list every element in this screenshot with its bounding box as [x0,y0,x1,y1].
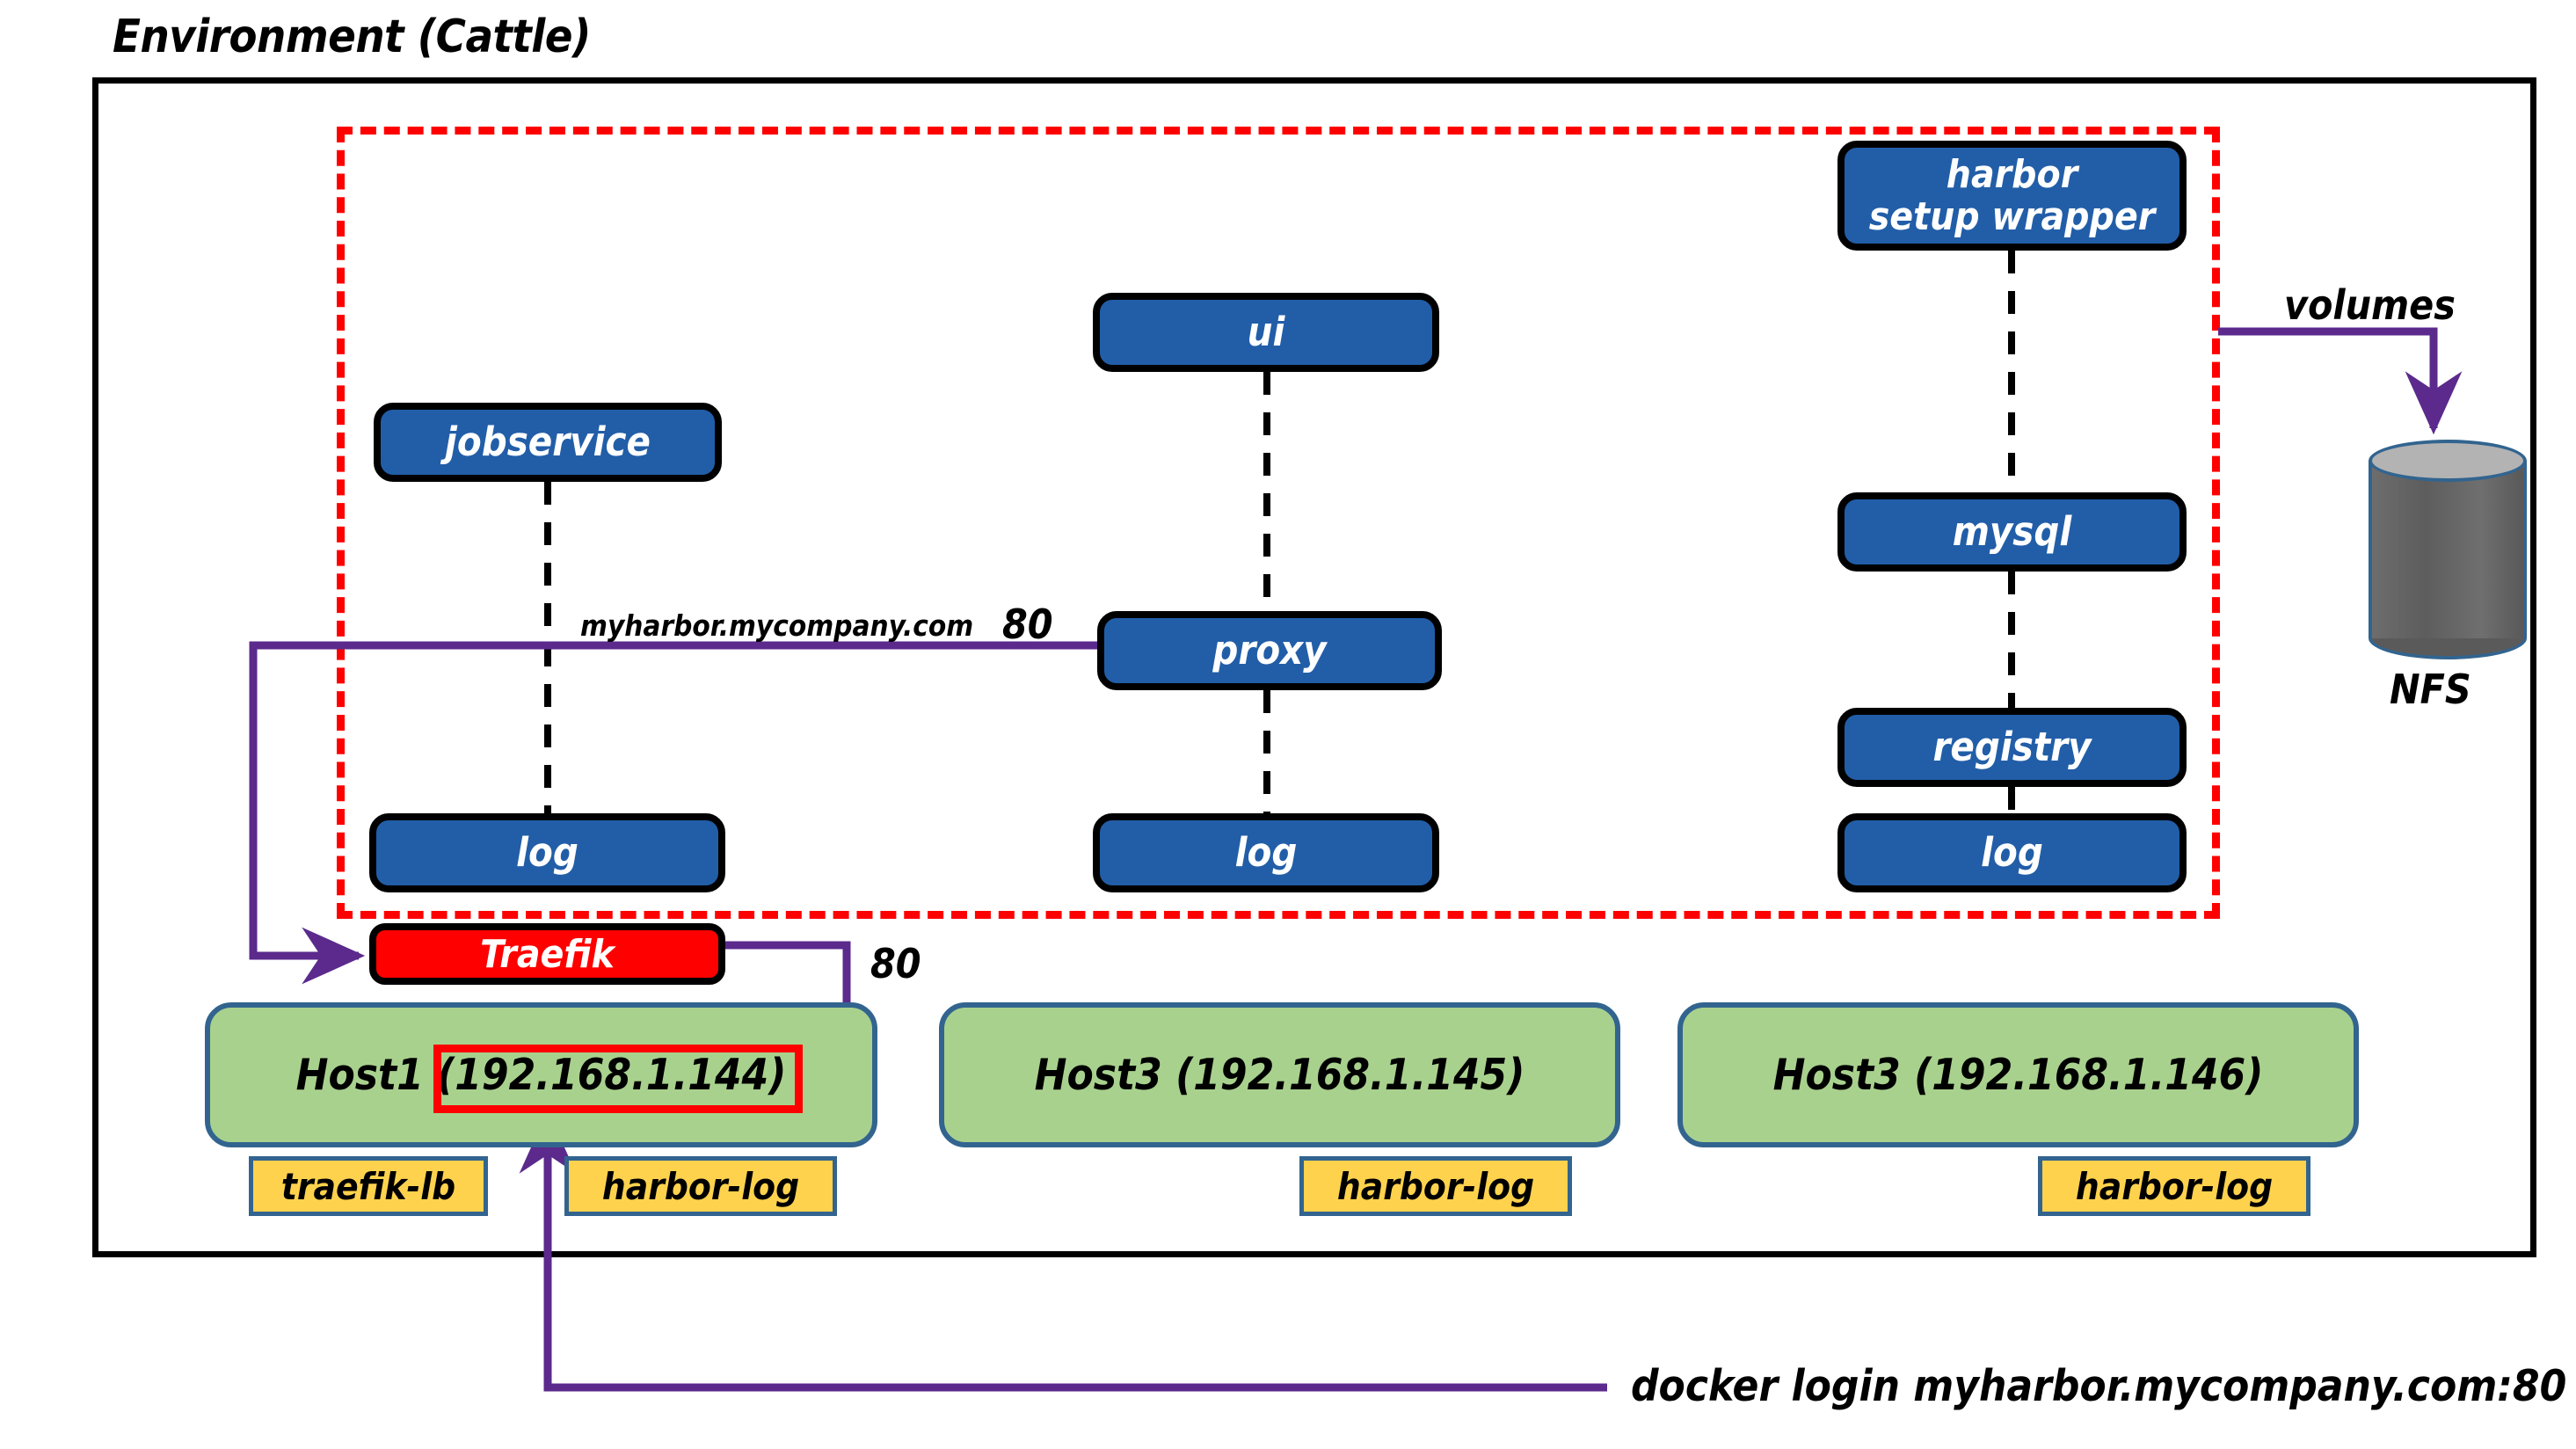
service-box-registry[interactable]: registry [1837,708,2187,787]
service-box-ui[interactable]: ui [1093,293,1439,372]
nfs-label: NFS [2390,666,2471,713]
harbor-setup-wrapper-line1: harbor [1947,154,2078,196]
service-box-proxy[interactable]: proxy [1097,611,1442,690]
host-box-3[interactable]: Host3 (192.168.1.146) [1677,1002,2359,1147]
connector-layer [0,0,2576,1449]
host-label-harbor-log-1[interactable]: harbor-log [564,1156,837,1216]
service-box-jobservice-log[interactable]: log [369,813,725,892]
nfs-cylinder-top [2369,440,2527,482]
host1-ip-highlight [433,1045,803,1113]
service-box-mysql[interactable]: mysql [1837,492,2187,572]
traefik-load-balancer-box[interactable]: Traefik [369,923,725,985]
domain-annotation: myharbor.mycompany.com [580,608,973,643]
host-box-2[interactable]: Host3 (192.168.1.145) [939,1002,1620,1147]
docker-login-annotation: docker login myharbor.mycompany.com:80 [1631,1361,2566,1411]
volumes-annotation: volumes [2284,281,2456,329]
diagram-canvas: Environment (Cattle) jobservice l [0,0,2576,1449]
host-label-harbor-log-2[interactable]: harbor-log [1299,1156,1572,1216]
service-box-harbor-setup-wrapper[interactable]: harbor setup wrapper [1837,141,2187,251]
nfs-storage-icon [2369,440,2527,659]
port-annotation-proxy: 80 [1002,601,1053,648]
service-box-registry-log[interactable]: log [1837,813,2187,892]
nfs-cylinder-body [2369,461,2527,638]
harbor-setup-wrapper-line2: setup wrapper [1869,196,2156,238]
service-box-proxy-log[interactable]: log [1093,813,1439,892]
service-box-jobservice[interactable]: jobservice [374,403,722,482]
host-label-harbor-log-3[interactable]: harbor-log [2038,1156,2310,1216]
port-annotation-traefik: 80 [870,940,921,987]
host-label-traefik-lb[interactable]: traefik-lb [249,1156,488,1216]
